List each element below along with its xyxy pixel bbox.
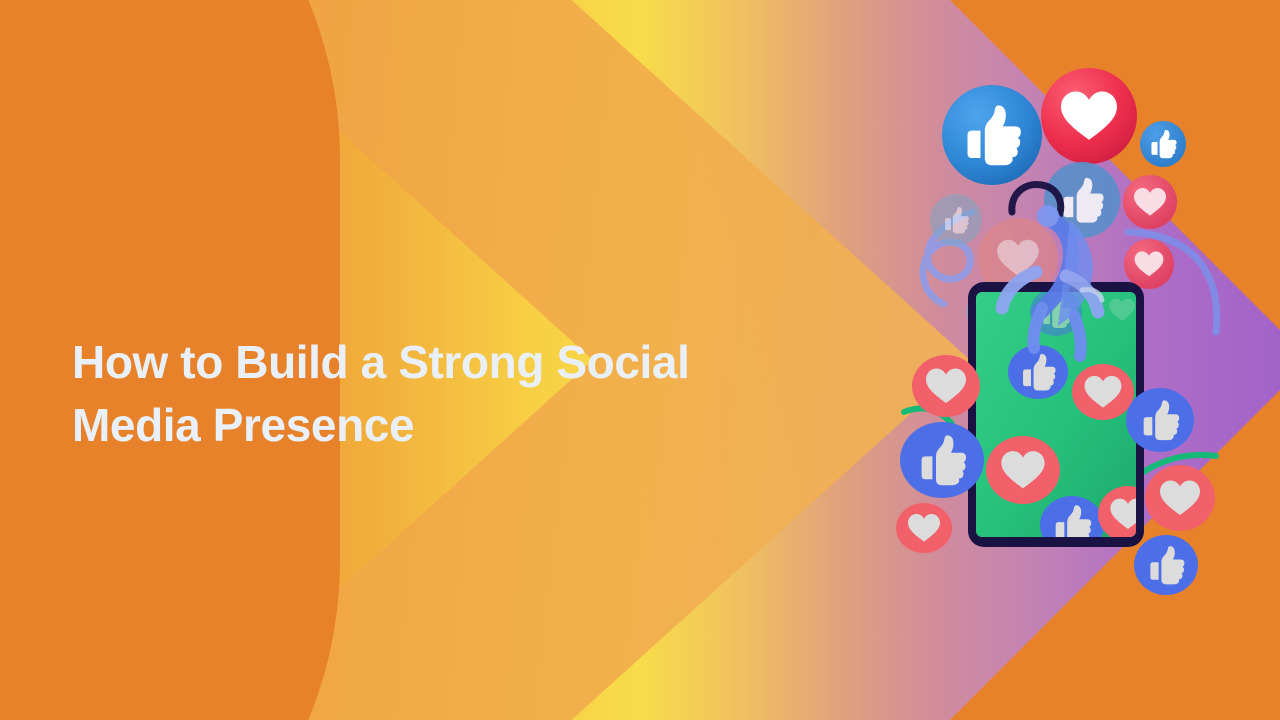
reaction-heart-small-right-2 — [1124, 239, 1174, 289]
reaction-heart-left-top — [912, 355, 980, 417]
screen-heart-1 — [1072, 364, 1134, 420]
reaction-like-small-top — [1140, 121, 1186, 167]
reaction-like-right-bottom — [1134, 535, 1198, 595]
page-title-line-1: How to Build a Strong Social — [72, 331, 772, 394]
page-title: How to Build a Strong Social Media Prese… — [72, 331, 772, 458]
reaction-like-right-top — [1126, 388, 1194, 452]
reaction-heart-left-bottom — [896, 503, 952, 553]
screen-like-1 — [1008, 345, 1068, 399]
reaction-like-large — [942, 85, 1042, 185]
page-title-line-2: Media Presence — [72, 394, 772, 457]
reaction-heart-small-right — [1123, 175, 1177, 229]
screen-heart-2 — [986, 436, 1060, 504]
social-media-engagement-illustration — [860, 20, 1280, 600]
social-media-hero-banner: How to Build a Strong Social Media Prese… — [0, 0, 1280, 720]
reaction-heart-large — [1041, 68, 1137, 164]
reaction-heart-right-mid — [1145, 465, 1215, 531]
reaction-like-left-mid — [900, 422, 984, 498]
